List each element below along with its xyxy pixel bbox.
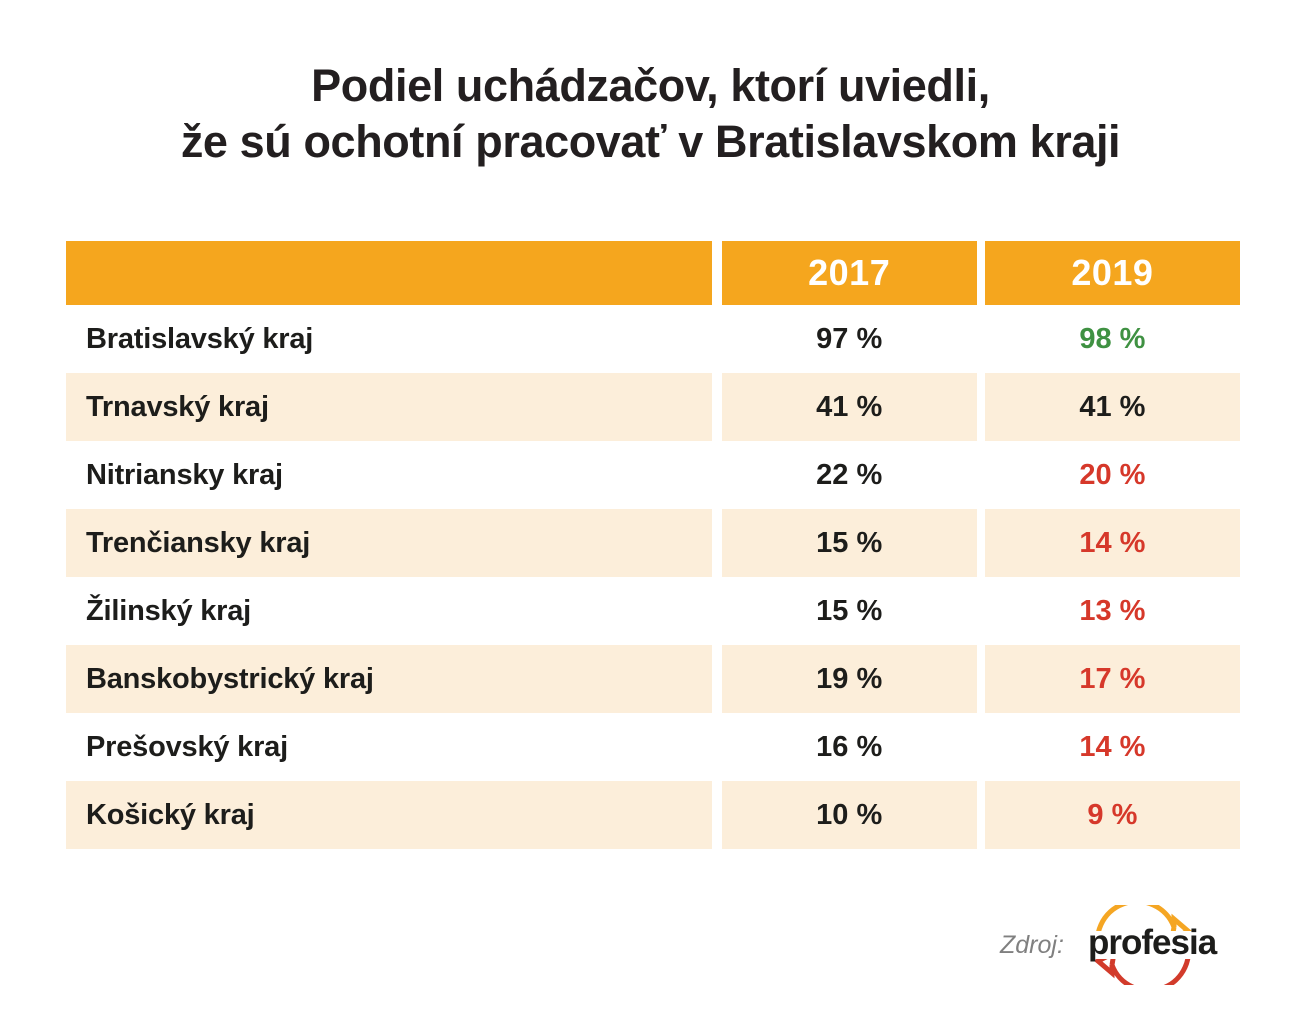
cell-value-2017: 15 %: [722, 577, 977, 645]
value-2019: 9 %: [1087, 799, 1137, 832]
cell-value-2019: 17 %: [985, 645, 1240, 713]
data-table: 2017 2019 Bratislavský kraj97 %98 %Trnav…: [66, 241, 1240, 849]
value-2019: 13 %: [1079, 595, 1145, 628]
table-row: Prešovský kraj16 %14 %: [66, 713, 1240, 781]
cell-value-2019: 14 %: [985, 509, 1240, 577]
cell-region-name: Nitriansky kraj: [66, 441, 712, 509]
title-line-1: Podiel uchádzačov, ktorí uviedli,: [0, 58, 1301, 114]
value-2017: 10 %: [816, 799, 882, 832]
cell-value-2017: 41 %: [722, 373, 977, 441]
value-2019: 17 %: [1079, 663, 1145, 696]
cell-region-name: Košický kraj: [66, 781, 712, 849]
value-2019: 98 %: [1079, 323, 1145, 356]
region-label: Banskobystrický kraj: [86, 663, 374, 696]
table-body: Bratislavský kraj97 %98 %Trnavský kraj41…: [66, 305, 1240, 849]
cell-value-2019: 14 %: [985, 713, 1240, 781]
table-row: Trnavský kraj41 %41 %: [66, 373, 1240, 441]
region-label: Trnavský kraj: [86, 391, 269, 424]
value-2019: 14 %: [1079, 527, 1145, 560]
table-row: Košický kraj10 %9 %: [66, 781, 1240, 849]
infographic-canvas: Podiel uchádzačov, ktorí uviedli, že sú …: [0, 0, 1301, 1017]
table-row: Bratislavský kraj97 %98 %: [66, 305, 1240, 373]
page-title: Podiel uchádzačov, ktorí uviedli, že sú …: [0, 58, 1301, 170]
value-2017: 16 %: [816, 731, 882, 764]
region-label: Bratislavský kraj: [86, 323, 313, 356]
cell-value-2017: 19 %: [722, 645, 977, 713]
table-header-row: 2017 2019: [66, 241, 1240, 305]
cell-region-name: Trenčiansky kraj: [66, 509, 712, 577]
header-cell-2017: 2017: [722, 241, 977, 305]
cell-value-2017: 97 %: [722, 305, 977, 373]
cell-value-2017: 15 %: [722, 509, 977, 577]
header-cell-region: [66, 241, 712, 305]
cell-region-name: Bratislavský kraj: [66, 305, 712, 373]
cell-value-2019: 9 %: [985, 781, 1240, 849]
logo-wordmark: profesia: [1088, 923, 1218, 962]
cell-value-2017: 16 %: [722, 713, 977, 781]
value-2017: 19 %: [816, 663, 882, 696]
cell-value-2019: 20 %: [985, 441, 1240, 509]
value-2019: 14 %: [1079, 731, 1145, 764]
region-label: Nitriansky kraj: [86, 459, 283, 492]
value-2017: 15 %: [816, 595, 882, 628]
table-row: Nitriansky kraj22 %20 %: [66, 441, 1240, 509]
profesia-logo-svg: profesia: [1078, 905, 1228, 985]
source-footer: Zdroj: profesia: [1000, 905, 1250, 985]
source-label: Zdroj:: [1000, 931, 1064, 960]
cell-value-2019: 98 %: [985, 305, 1240, 373]
title-line-2: že sú ochotní pracovať v Bratislavskom k…: [0, 114, 1301, 170]
table-row: Trenčiansky kraj15 %14 %: [66, 509, 1240, 577]
cell-value-2017: 10 %: [722, 781, 977, 849]
region-label: Prešovský kraj: [86, 731, 288, 764]
table-row: Žilinský kraj15 %13 %: [66, 577, 1240, 645]
region-label: Žilinský kraj: [86, 595, 251, 628]
header-year-2019: 2019: [1071, 252, 1153, 294]
value-2019: 41 %: [1079, 391, 1145, 424]
cell-value-2019: 13 %: [985, 577, 1240, 645]
cell-region-name: Prešovský kraj: [66, 713, 712, 781]
table-row: Banskobystrický kraj19 %17 %: [66, 645, 1240, 713]
cell-region-name: Trnavský kraj: [66, 373, 712, 441]
value-2019: 20 %: [1079, 459, 1145, 492]
profesia-logo: profesia: [1078, 905, 1228, 985]
region-label: Košický kraj: [86, 799, 255, 832]
cell-region-name: Banskobystrický kraj: [66, 645, 712, 713]
value-2017: 15 %: [816, 527, 882, 560]
cell-value-2017: 22 %: [722, 441, 977, 509]
header-cell-2019: 2019: [985, 241, 1240, 305]
cell-region-name: Žilinský kraj: [66, 577, 712, 645]
value-2017: 97 %: [816, 323, 882, 356]
cell-value-2019: 41 %: [985, 373, 1240, 441]
value-2017: 41 %: [816, 391, 882, 424]
value-2017: 22 %: [816, 459, 882, 492]
header-year-2017: 2017: [808, 252, 890, 294]
region-label: Trenčiansky kraj: [86, 527, 310, 560]
